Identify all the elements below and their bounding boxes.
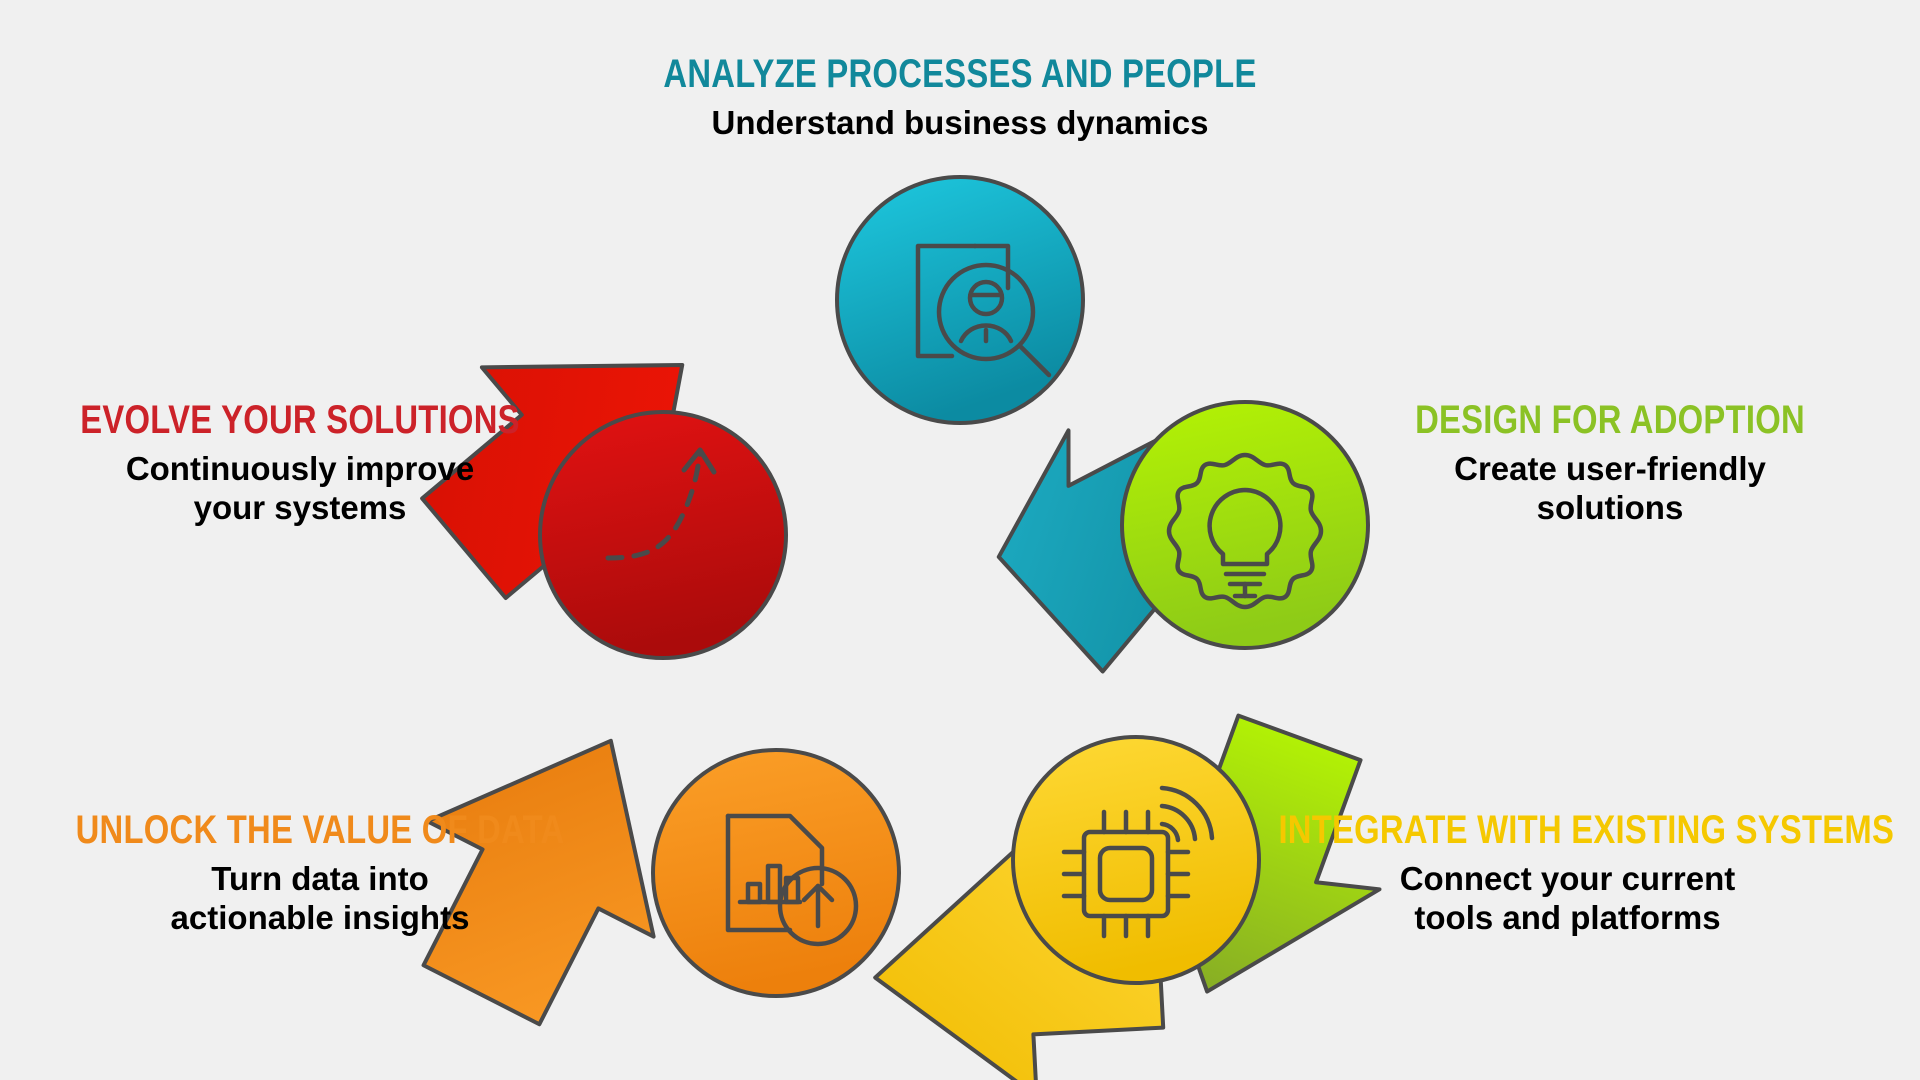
subtitle-line: Create user-friendly	[1330, 450, 1890, 489]
step-label-integrate: INTEGRATE WITH EXISTING SYSTEMS Connect …	[1215, 810, 1920, 938]
step-subtitle-design: Create user-friendly solutions	[1330, 450, 1890, 528]
subtitle-line: Understand business dynamics	[430, 104, 1490, 143]
step-label-evolve: EVOLVE YOUR SOLUTIONS Continuously impro…	[20, 400, 580, 528]
step-circle-analyze[interactable]	[837, 177, 1083, 423]
infographic-canvas: ANALYZE PROCESSES AND PEOPLE Understand …	[0, 0, 1920, 1080]
step-circle-unlock[interactable]	[653, 750, 899, 996]
subtitle-line: your systems	[20, 489, 580, 528]
step-label-design: DESIGN FOR ADOPTION Create user-friendly…	[1330, 400, 1890, 528]
subtitle-line: Continuously improve	[20, 450, 580, 489]
step-heading-unlock: UNLOCK THE VALUE OF DATA	[74, 810, 566, 850]
step-subtitle-evolve: Continuously improve your systems	[20, 450, 580, 528]
step-subtitle-unlock: Turn data into actionable insights	[20, 860, 620, 938]
subtitle-line: Turn data into	[20, 860, 620, 899]
step-label-analyze: ANALYZE PROCESSES AND PEOPLE Understand …	[430, 54, 1490, 143]
subtitle-line: actionable insights	[20, 899, 620, 938]
step-label-unlock: UNLOCK THE VALUE OF DATA Turn data into …	[20, 810, 620, 938]
step-heading-integrate: INTEGRATE WITH EXISTING SYSTEMS	[1278, 810, 1856, 850]
step-heading-analyze: ANALYZE PROCESSES AND PEOPLE	[525, 54, 1394, 94]
subtitle-line: tools and platforms	[1215, 899, 1920, 938]
subtitle-line: Connect your current	[1215, 860, 1920, 899]
step-heading-evolve: EVOLVE YOUR SOLUTIONS	[70, 400, 529, 440]
subtitle-line: solutions	[1330, 489, 1890, 528]
step-heading-design: DESIGN FOR ADOPTION	[1380, 400, 1839, 440]
step-subtitle-integrate: Connect your current tools and platforms	[1215, 860, 1920, 938]
step-subtitle-analyze: Understand business dynamics	[430, 104, 1490, 143]
